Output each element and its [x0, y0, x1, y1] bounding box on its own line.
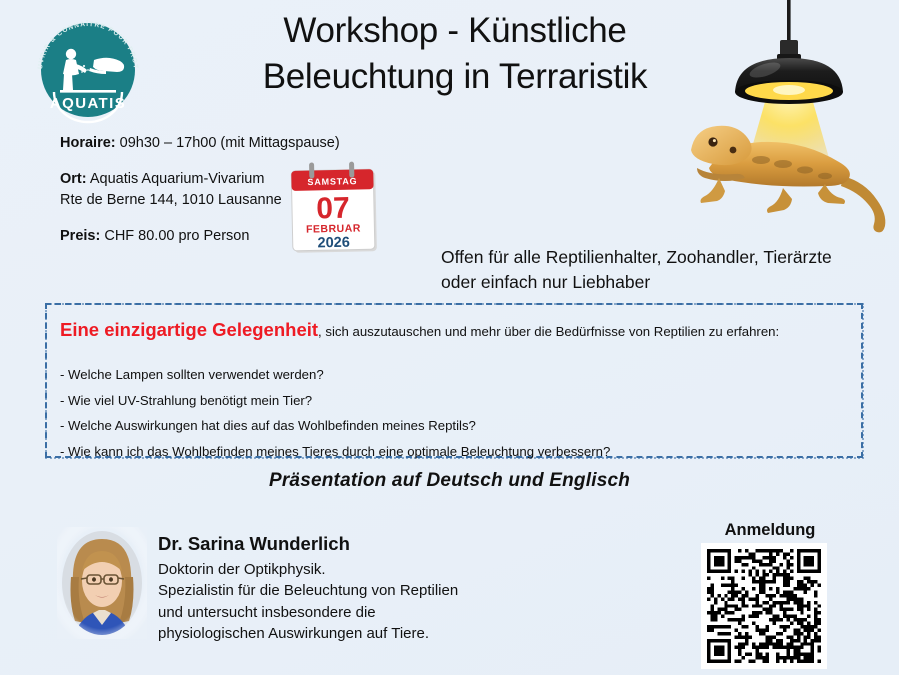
- price-label: Preis:: [60, 228, 100, 244]
- aquatis-logo: DÉCOUVRIR & CONNAÎTRE POUR PROTÉGER AQUA…: [24, 12, 152, 124]
- lamp-lizard-graphic: [657, 0, 897, 250]
- logo-wordmark: AQUATIS: [50, 95, 126, 112]
- time-label: Horaire:: [60, 135, 116, 151]
- detail-time: Horaire: 09h30 – 17h00 (mit Mittagspause…: [60, 133, 360, 154]
- speaker-bio-line: und untersucht insbesondere die: [158, 602, 538, 623]
- calendar-day: 07: [316, 192, 350, 226]
- title-line-2: Beleuchtung in Terraristik: [190, 54, 720, 100]
- page-title: Workshop - Künstliche Beleuchtung in Ter…: [190, 8, 720, 100]
- heat-lamp-and-lizard-illustration: [657, 0, 897, 250]
- speaker-bio-line: Spezialistin für die Beleuchtung von Rep…: [158, 580, 538, 601]
- calendar-icon: SAMSTAG 07 FEBRUAR 2026: [287, 159, 383, 257]
- lizard-back-leg: [818, 184, 845, 204]
- speaker-portrait: [57, 527, 147, 639]
- audience-line-2: oder einfach nur Liebhaber: [441, 270, 891, 295]
- speaker-name: Dr. Sarina Wunderlich: [158, 533, 538, 555]
- audience-line-1: Offen für alle Reptilienhalter, Zoohandl…: [441, 245, 891, 270]
- calendar-year: 2026: [317, 235, 350, 252]
- highlight-lead: Eine einzigartige Gelegenheit, sich ausz…: [60, 318, 860, 342]
- title-line-1: Workshop - Künstliche: [190, 8, 720, 54]
- question-item: - Welche Lampen sollten verwendet werden…: [60, 362, 850, 388]
- calendar-weekday: SAMSTAG: [307, 176, 357, 187]
- highlight-lead-rest: , sich auszutauschen und mehr über die B…: [318, 324, 779, 339]
- question-item: - Wie kann ich das Wohlbefinden meines T…: [60, 439, 850, 465]
- question-list: - Welche Lampen sollten verwendet werden…: [60, 362, 850, 465]
- registration-label: Anmeldung: [690, 521, 850, 540]
- speaker-avatar: [57, 527, 147, 639]
- place-value: Aquatis Aquarium-Vivarium: [90, 171, 265, 187]
- highlight-lead-accent: Eine einzigartige Gelegenheit: [60, 319, 318, 340]
- lamp-cord: [787, 0, 791, 42]
- question-item: - Welche Auswirkungen hat dies auf das W…: [60, 413, 850, 439]
- lizard-front-leg: [701, 178, 726, 203]
- lamp-bulb: [773, 85, 805, 95]
- calendar-graphic: SAMSTAG 07 FEBRUAR 2026: [287, 159, 383, 257]
- lizard-mid-leg: [767, 188, 792, 213]
- speaker-bio-line: physiologischen Auswirkungen auf Tiere.: [158, 623, 538, 644]
- speaker-info: Dr. Sarina Wunderlich Doktorin der Optik…: [158, 533, 538, 645]
- place-label: Ort:: [60, 171, 87, 187]
- aquatis-logo-graphic: DÉCOUVRIR & CONNAÎTRE POUR PROTÉGER AQUA…: [24, 12, 152, 124]
- calendar-month: FEBRUAR: [306, 222, 361, 235]
- audience-note: Offen für alle Reptilienhalter, Zoohandl…: [441, 245, 891, 295]
- time-value: 09h30 – 17h00 (mit Mittagspause): [120, 135, 340, 151]
- price-value: CHF 80.00 pro Person: [104, 228, 249, 244]
- speaker-bio-line: Doktorin der Optikphysik.: [158, 559, 538, 580]
- speaker-bio: Doktorin der Optikphysik. Spezialistin f…: [158, 559, 538, 645]
- question-item: - Wie viel UV-Strahlung benötigt mein Ti…: [60, 388, 850, 414]
- lizard-tail: [841, 176, 885, 232]
- lizard-head: [691, 126, 752, 165]
- registration-qr-code[interactable]: [701, 543, 827, 669]
- qr-code-graphic[interactable]: [707, 549, 821, 663]
- language-note: Präsentation auf Deutsch und Englisch: [0, 470, 899, 492]
- lamp-socket: [780, 40, 798, 56]
